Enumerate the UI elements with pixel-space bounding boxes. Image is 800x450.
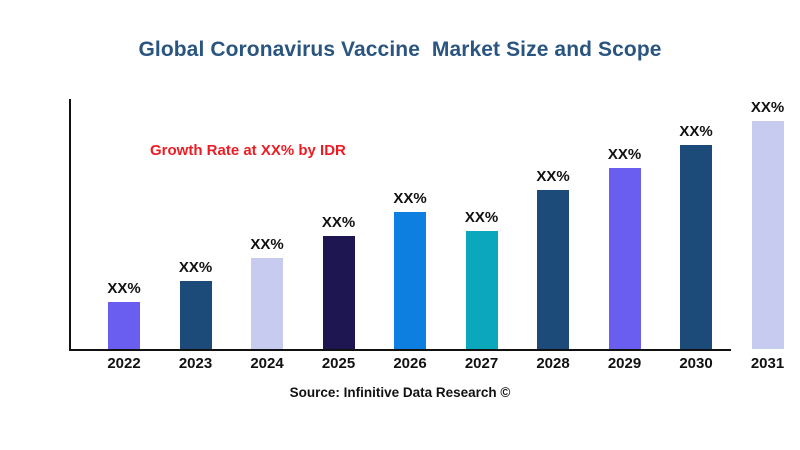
bar-2030 bbox=[680, 145, 712, 349]
bar-2024 bbox=[251, 258, 283, 349]
bar-value-label-2023: XX% bbox=[156, 259, 236, 276]
bar-2027 bbox=[466, 231, 498, 349]
x-tick-label-2031: 2031 bbox=[728, 355, 800, 372]
bar-2028 bbox=[537, 190, 569, 349]
bar-value-label-2027: XX% bbox=[442, 209, 522, 226]
bar-value-label-2026: XX% bbox=[370, 190, 450, 207]
x-tick-label-2026: 2026 bbox=[370, 355, 450, 372]
growth-rate-annotation: Growth Rate at XX% by IDR bbox=[150, 142, 346, 159]
bar-2031 bbox=[752, 121, 784, 349]
x-tick-label-2023: 2023 bbox=[156, 355, 236, 372]
bar-value-label-2025: XX% bbox=[299, 214, 379, 231]
bar-2022 bbox=[108, 302, 140, 349]
bar-value-label-2028: XX% bbox=[513, 168, 593, 185]
x-tick-label-2027: 2027 bbox=[442, 355, 522, 372]
bar-2029 bbox=[609, 168, 641, 349]
bar-2023 bbox=[180, 281, 212, 349]
bar-2026 bbox=[394, 212, 426, 349]
source-note: Source: Infinitive Data Research © bbox=[0, 385, 800, 400]
bar-value-label-2022: XX% bbox=[84, 280, 164, 297]
bar-value-label-2031: XX% bbox=[728, 99, 800, 116]
bar-value-label-2029: XX% bbox=[585, 146, 665, 163]
x-tick-label-2025: 2025 bbox=[299, 355, 379, 372]
x-tick-label-2022: 2022 bbox=[84, 355, 164, 372]
x-tick-label-2028: 2028 bbox=[513, 355, 593, 372]
bar-2025 bbox=[323, 236, 355, 349]
x-tick-label-2029: 2029 bbox=[585, 355, 665, 372]
bar-value-label-2030: XX% bbox=[656, 123, 736, 140]
x-tick-label-2030: 2030 bbox=[656, 355, 736, 372]
bar-value-label-2024: XX% bbox=[227, 236, 307, 253]
market-size-bar-chart: Global Coronavirus Vaccine Market Size a… bbox=[0, 0, 800, 450]
x-tick-label-2024: 2024 bbox=[227, 355, 307, 372]
plot-area: XX%2022XX%2023XX%2024XX%2025XX%2026XX%20… bbox=[0, 0, 800, 450]
